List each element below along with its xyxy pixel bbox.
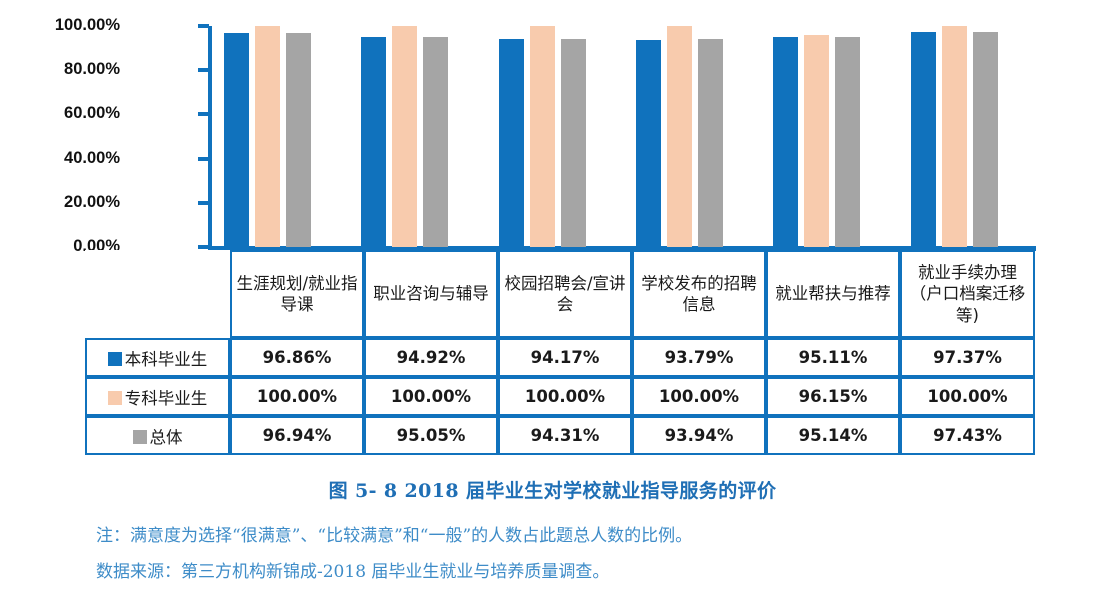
y-axis-tick-label: 40.00%: [0, 150, 120, 167]
table-column-header: 就业帮扶与推荐: [766, 250, 900, 338]
bar: [530, 26, 555, 247]
legend-label: 总体: [150, 428, 183, 447]
table-value-cell: 94.31%: [498, 416, 632, 455]
bar: [698, 39, 723, 247]
legend-row-header: 专科毕业生: [85, 377, 230, 416]
legend-label: 本科毕业生: [125, 350, 208, 369]
table-row: 本科毕业生96.86%94.92%94.17%93.79%95.11%97.37…: [85, 338, 1035, 377]
bar-group: [212, 26, 349, 247]
table-value-cell: 96.86%: [230, 338, 364, 377]
table-value-cell: 100.00%: [498, 377, 632, 416]
bar: [224, 33, 249, 247]
table-value-cell: 100.00%: [364, 377, 498, 416]
table-value-cell: 96.94%: [230, 416, 364, 455]
figure-note-definition: 注：满意度为选择“很满意”、“比较满意”和“一般”的人数占此题总人数的比例。: [96, 521, 692, 546]
table-value-cell: 93.94%: [632, 416, 766, 455]
bar: [392, 26, 417, 247]
chart-figure: 100.00%80.00%60.00%40.00%20.00%0.00% 生涯规…: [0, 0, 1105, 597]
bar-series-container: [212, 26, 1036, 247]
table-value-cell: 93.79%: [632, 338, 766, 377]
bar-group: [624, 26, 761, 247]
legend-label: 专科毕业生: [125, 389, 208, 408]
table-value-cell: 100.00%: [632, 377, 766, 416]
table-value-cell: 97.37%: [900, 338, 1035, 377]
legend-row-header: 本科毕业生: [85, 338, 230, 377]
table-value-cell: 100.00%: [900, 377, 1035, 416]
table-value-cell: 96.15%: [766, 377, 900, 416]
y-axis-tick-label: 20.00%: [0, 194, 120, 211]
figure-note-source: 数据来源：第三方机构新锦成-2018 届毕业生就业与培养质量调查。: [96, 557, 609, 582]
table-column-header: 职业咨询与辅导: [364, 250, 498, 338]
chart-data-table: 生涯规划/就业指导课职业咨询与辅导校园招聘会/宣讲会学校发布的招聘信息就业帮扶与…: [85, 250, 1035, 455]
bar: [667, 26, 692, 247]
table-value-cell: 97.43%: [900, 416, 1035, 455]
bar-group: [761, 26, 898, 247]
bar: [286, 33, 311, 247]
bar: [804, 35, 829, 247]
y-axis-tick-label: 80.00%: [0, 61, 120, 78]
table-column-header: 生涯规划/就业指导课: [230, 250, 364, 338]
legend-row-header: 总体: [85, 416, 230, 455]
bar-group: [487, 26, 624, 247]
table-value-cell: 94.17%: [498, 338, 632, 377]
bar: [973, 32, 998, 247]
bar-group: [899, 26, 1036, 247]
table-value-cell: 95.11%: [766, 338, 900, 377]
table-value-cell: 94.92%: [364, 338, 498, 377]
y-axis-tick-label: 60.00%: [0, 105, 120, 122]
legend-swatch-icon: [108, 391, 122, 405]
bar: [942, 26, 967, 247]
legend-swatch-icon: [133, 430, 147, 444]
y-axis-tick-label: 100.00%: [0, 17, 120, 34]
table-corner-blank: [85, 250, 230, 338]
table-column-header: 校园招聘会/宣讲会: [498, 250, 632, 338]
legend-swatch-icon: [108, 352, 122, 366]
table-value-cell: 95.05%: [364, 416, 498, 455]
bar: [499, 39, 524, 247]
table-column-header: 学校发布的招聘信息: [632, 250, 766, 338]
bar: [835, 37, 860, 247]
figure-caption: 图 5- 8 2018 届毕业生对学校就业指导服务的评价: [0, 476, 1105, 503]
bar-group: [349, 26, 486, 247]
chart-plot-area: 100.00%80.00%60.00%40.00%20.00%0.00%: [130, 26, 1040, 252]
table-header-row: 生涯规划/就业指导课职业咨询与辅导校园招聘会/宣讲会学校发布的招聘信息就业帮扶与…: [85, 250, 1035, 338]
table-column-header: 就业手续办理（户口档案迁移等): [900, 250, 1035, 338]
table-value-cell: 100.00%: [230, 377, 364, 416]
bar: [636, 40, 661, 247]
bar: [361, 37, 386, 247]
table-row: 总体96.94%95.05%94.31%93.94%95.14%97.43%: [85, 416, 1035, 455]
bar: [423, 37, 448, 247]
bar: [561, 39, 586, 247]
bar: [255, 26, 280, 247]
bar: [911, 32, 936, 247]
table-value-cell: 95.14%: [766, 416, 900, 455]
table-row: 专科毕业生100.00%100.00%100.00%100.00%96.15%1…: [85, 377, 1035, 416]
bar: [773, 37, 798, 247]
